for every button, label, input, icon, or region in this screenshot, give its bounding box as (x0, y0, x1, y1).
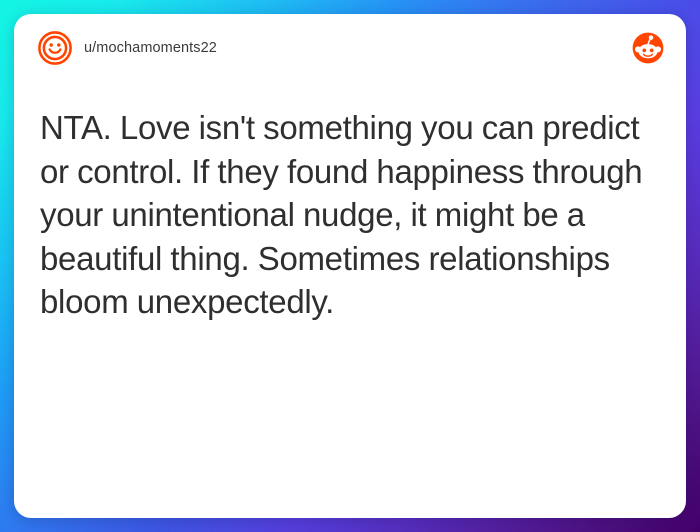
username-label: u/mochamoments22 (84, 40, 632, 56)
post-body: NTA. Love isn't something you can predic… (14, 60, 686, 518)
reddit-post-card: u/mochamoments22 (14, 14, 686, 518)
gradient-background: u/mochamoments22 (0, 0, 700, 532)
reddit-snoo-icon (632, 32, 664, 64)
post-text: NTA. Love isn't something you can predic… (40, 106, 652, 324)
brand-logo (632, 32, 664, 64)
post-header: u/mochamoments22 (14, 14, 686, 60)
